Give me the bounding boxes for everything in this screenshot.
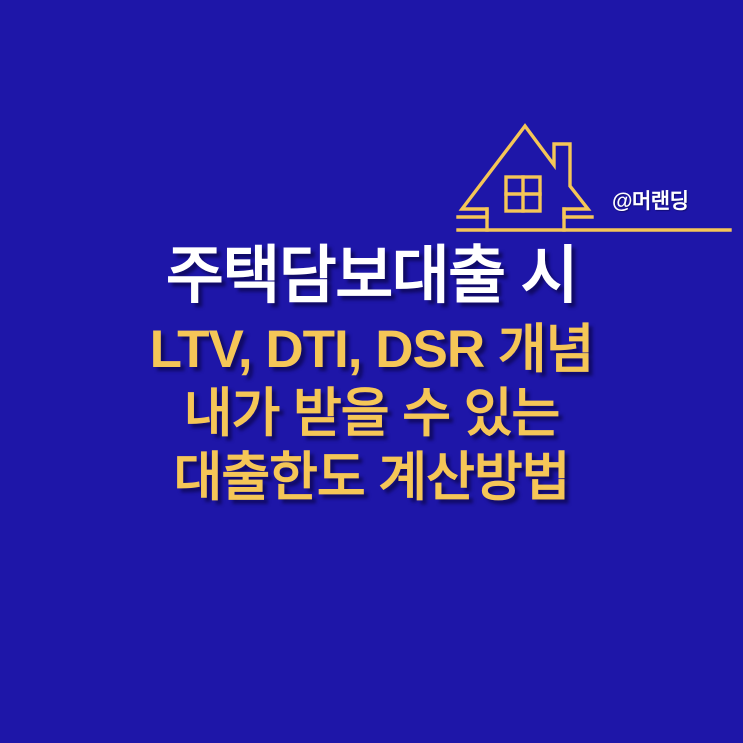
house-outline-icon <box>440 105 743 240</box>
subline-3: 대출한도 계산방법 <box>0 446 743 510</box>
title-block: 주택담보대출 시 LTV, DTI, DSR 개념 내가 받을 수 있는 대출한… <box>0 243 743 510</box>
headline-title: 주택담보대출 시 <box>0 243 743 310</box>
creator-handle: @머랜딩 <box>612 185 688 215</box>
thumbnail-canvas: @머랜딩 주택담보대출 시 LTV, DTI, DSR 개념 내가 받을 수 있… <box>0 0 743 743</box>
subline-1: LTV, DTI, DSR 개념 <box>0 318 743 382</box>
subline-2: 내가 받을 수 있는 <box>0 382 743 446</box>
house-roof-path <box>458 126 592 217</box>
